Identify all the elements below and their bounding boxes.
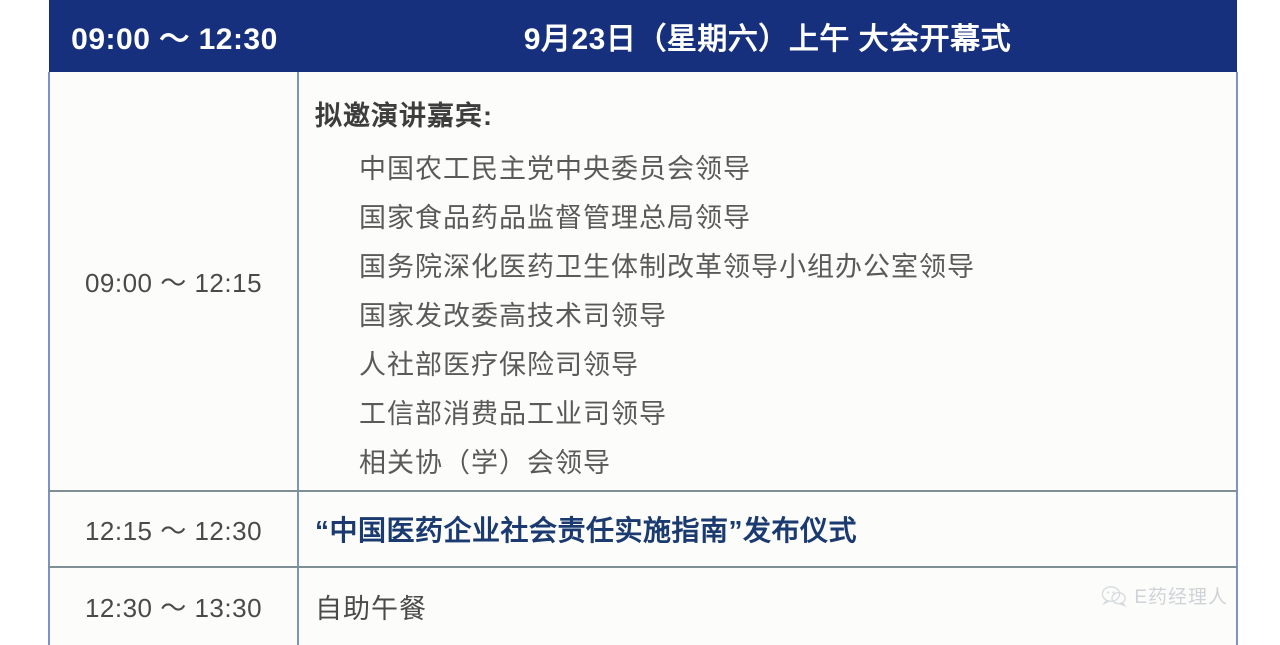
list-item: 工信部消费品工业司领导 [359,390,1236,439]
ceremony-cell: “中国医药企业社会责任实施指南”发布仪式 [298,491,1237,567]
list-item: 人社部医疗保险司领导 [359,341,1236,390]
list-item: 国家发改委高技术司领导 [359,292,1236,341]
row-time-range-ceremony: 12:15 ～ 12:30 [49,491,298,567]
list-item: 国家食品药品监督管理总局领导 [359,194,1236,243]
schedule-table: 09:00 ～ 12:30 9月23日（星期六）上午 大会开幕式 09:00 ～… [48,0,1238,645]
guest-list-heading: 拟邀演讲嘉宾: [315,94,1236,133]
ceremony-title: “中国医药企业社会责任实施指南”发布仪式 [315,515,857,546]
guest-list-cell: 拟邀演讲嘉宾: 中国农工民主党中央委员会领导 国家食品药品监督管理总局领导 国务… [298,72,1237,491]
list-item: 国务院深化医药卫生体制改革领导小组办公室领导 [359,243,1236,292]
list-item: 中国农工民主党中央委员会领导 [359,145,1236,194]
header-session-title: 9月23日（星期六）上午 大会开幕式 [298,0,1237,72]
table-row-lunch: 12:30 ～ 13:30 自助午餐 [49,567,1237,645]
list-item: 相关协（学）会领导 [359,439,1236,488]
row-time-range-lunch: 12:30 ～ 13:30 [49,567,298,645]
table-row-ceremony: 12:15 ～ 12:30 “中国医药企业社会责任实施指南”发布仪式 [49,491,1237,567]
guest-block: 拟邀演讲嘉宾: 中国农工民主党中央委员会领导 国家食品药品监督管理总局领导 国务… [315,72,1236,488]
lunch-title: 自助午餐 [315,594,427,624]
schedule-header-row: 09:00 ～ 12:30 9月23日（星期六）上午 大会开幕式 [49,0,1237,72]
lunch-cell: 自助午餐 [298,567,1237,645]
row-time-range-guests: 09:00 ～ 12:15 [49,72,298,491]
table-row-guests: 09:00 ～ 12:15 拟邀演讲嘉宾: 中国农工民主党中央委员会领导 国家食… [49,72,1237,491]
guest-list: 中国农工民主党中央委员会领导 国家食品药品监督管理总局领导 国务院深化医药卫生体… [315,145,1236,488]
header-time-range: 09:00 ～ 12:30 [49,0,298,72]
conference-schedule: 09:00 ～ 12:30 9月23日（星期六）上午 大会开幕式 09:00 ～… [48,0,1236,641]
